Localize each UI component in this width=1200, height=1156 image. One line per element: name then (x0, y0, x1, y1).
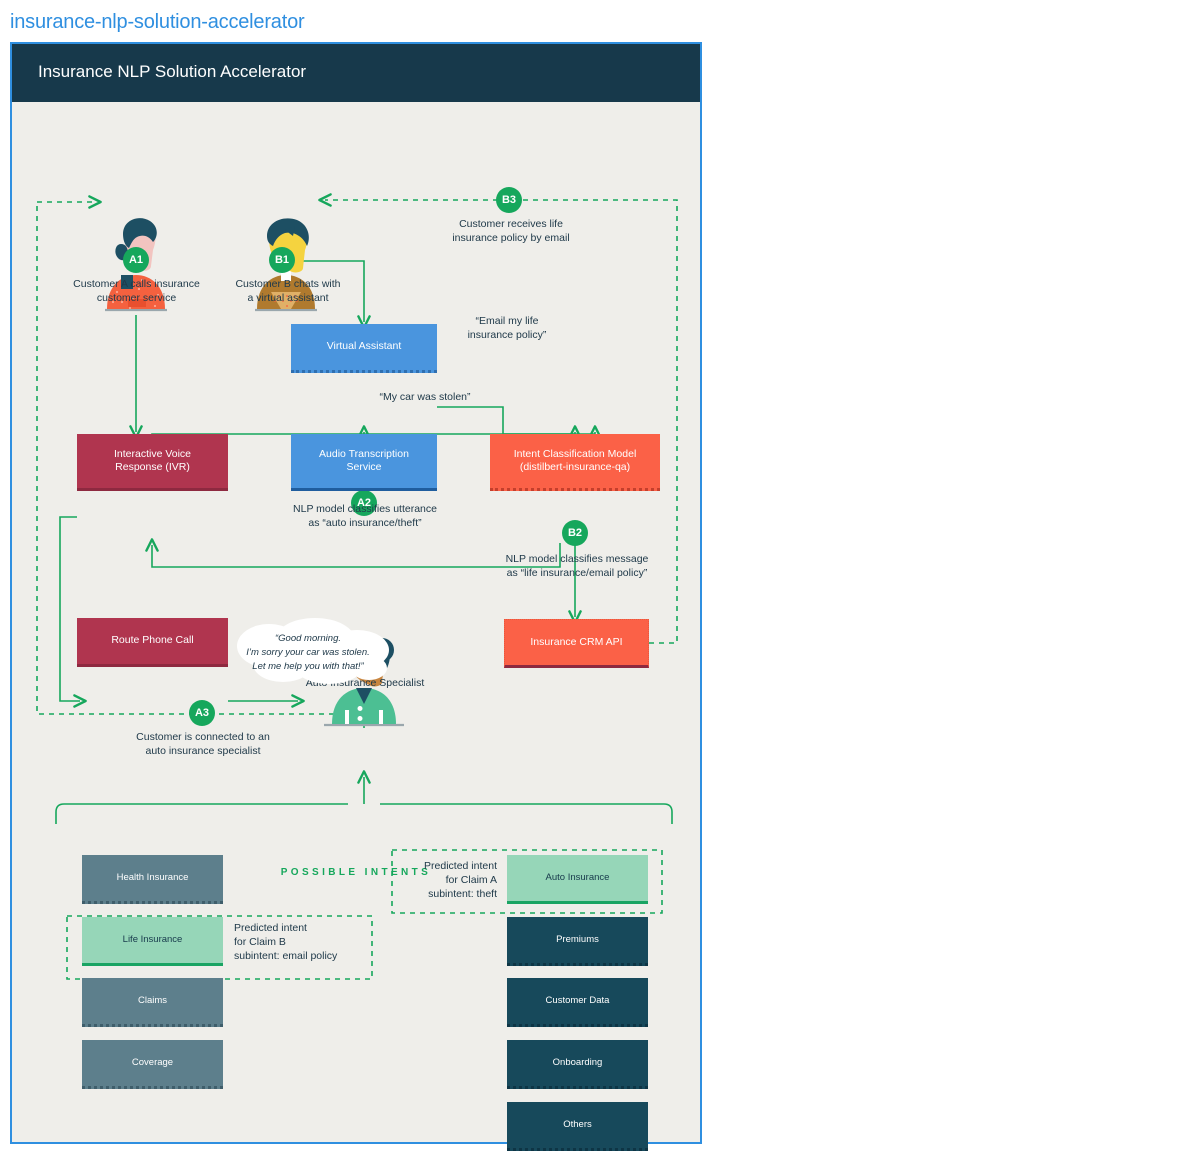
node-ivr-line-2: Response (IVR) (115, 461, 190, 473)
prediction-claim-b-line-1: Predicted intent (234, 921, 369, 935)
intent-life-insurance[interactable]: Life Insurance (82, 917, 223, 966)
node-intent-line-1: Intent Classification Model (514, 448, 637, 460)
speech-bubble-text: “Good morning. I’m sorry your car was st… (222, 632, 394, 673)
card-header: Insurance NLP Solution Accelerator (12, 44, 700, 102)
intent-premiums[interactable]: Premiums (507, 917, 648, 966)
node-virtual-assistant[interactable]: Virtual Assistant (291, 324, 437, 373)
step-note-a1-line-2: customer service (54, 291, 219, 305)
node-intent-label: Intent Classification Model (distilbert-… (508, 448, 643, 474)
utterance-email-policy: “Email my life insurance policy” (442, 314, 572, 342)
prediction-claim-a-line-1: Predicted intent (397, 859, 497, 873)
node-ivr-line-1: Interactive Voice (114, 448, 191, 460)
speech-bubble-line-2: I’m sorry your car was stolen. (222, 646, 394, 660)
badge-b1: B1 (269, 247, 295, 273)
prediction-claim-b-line-3: subintent: email policy (234, 949, 369, 963)
prediction-claim-b-note: Predicted intent for Claim B subintent: … (234, 921, 369, 964)
step-note-a2-line-2: as “auto insurance/theft” (274, 516, 456, 530)
intent-health-insurance[interactable]: Health Insurance (82, 855, 223, 904)
intent-auto-insurance-label: Auto Insurance (540, 872, 616, 884)
node-route-phone-call[interactable]: Route Phone Call (77, 618, 228, 667)
intent-claims[interactable]: Claims (82, 978, 223, 1027)
step-note-b2: NLP model classifies message as “life in… (482, 552, 672, 580)
node-audio-label: Audio Transcription Service (313, 448, 415, 474)
utterance-email-policy-line-1: “Email my life (442, 314, 572, 328)
step-note-b1-line-2: a virtual assistant (208, 291, 368, 305)
diagram-card: Insurance NLP Solution Accelerator (10, 42, 702, 1144)
intent-life-insurance-label: Life Insurance (117, 934, 189, 946)
node-ivr-label: Interactive Voice Response (IVR) (108, 448, 197, 474)
step-note-b3-line-1: Customer receives life (425, 217, 597, 231)
intent-onboarding-label: Onboarding (547, 1057, 609, 1069)
prediction-claim-a-line-2: for Claim A (397, 873, 497, 887)
node-insurance-crm-api[interactable]: Insurance CRM API (504, 619, 649, 668)
node-interactive-voice-response[interactable]: Interactive Voice Response (IVR) (77, 434, 228, 491)
node-audio-line-1: Audio Transcription (319, 448, 409, 460)
diagram-canvas: “Good morning. I’m sorry your car was st… (12, 102, 700, 1142)
intent-auto-insurance[interactable]: Auto Insurance (507, 855, 648, 904)
step-note-b2-line-2: as “life insurance/email policy” (482, 566, 672, 580)
step-note-a1: Customer A calls insurance customer serv… (54, 277, 219, 305)
step-note-b2-line-1: NLP model classifies message (482, 552, 672, 566)
intent-claims-label: Claims (132, 995, 173, 1007)
prediction-claim-a-note: Predicted intent for Claim A subintent: … (397, 859, 497, 902)
step-note-a3-line-1: Customer is connected to an (112, 730, 294, 744)
utterance-email-policy-line-2: insurance policy” (442, 328, 572, 342)
intent-premiums-label: Premiums (550, 934, 605, 946)
step-note-b3-line-2: insurance policy by email (425, 231, 597, 245)
intent-others[interactable]: Others (507, 1102, 648, 1151)
prediction-claim-b-line-2: for Claim B (234, 935, 369, 949)
intent-coverage[interactable]: Coverage (82, 1040, 223, 1089)
utterance-car-stolen: “My car was stolen” (345, 390, 505, 404)
step-note-b1: Customer B chats with a virtual assistan… (208, 277, 368, 305)
page-title: insurance-nlp-solution-accelerator (10, 11, 304, 34)
step-note-b3: Customer receives life insurance policy … (425, 217, 597, 245)
badge-b2: B2 (562, 520, 588, 546)
intent-customer-data[interactable]: Customer Data (507, 978, 648, 1027)
node-intent-classification-model[interactable]: Intent Classification Model (distilbert-… (490, 434, 660, 491)
speech-bubble-line-1: “Good morning. (222, 632, 394, 646)
node-audio-transcription-service[interactable]: Audio Transcription Service (291, 434, 437, 491)
badge-a1: A1 (123, 247, 149, 273)
badge-a3: A3 (189, 700, 215, 726)
node-intent-line-2: (distilbert-insurance-qa) (520, 461, 630, 473)
step-note-a2: NLP model classifies utterance as “auto … (274, 502, 456, 530)
node-virtual-assistant-label: Virtual Assistant (321, 340, 408, 353)
speech-bubble-line-3: Let me help you with that!” (222, 660, 394, 674)
prediction-claim-a-line-3: subintent: theft (397, 887, 497, 901)
step-note-a2-line-1: NLP model classifies utterance (274, 502, 456, 516)
step-note-a1-line-1: Customer A calls insurance (54, 277, 219, 291)
step-note-a3-line-2: auto insurance specialist (112, 744, 294, 758)
screenshot-root: insurance-nlp-solution-accelerator Insur… (0, 0, 1200, 1156)
intent-coverage-label: Coverage (126, 1057, 179, 1069)
node-insurance-crm-api-label: Insurance CRM API (524, 636, 628, 649)
intent-health-insurance-label: Health Insurance (111, 872, 195, 884)
intent-others-label: Others (557, 1119, 598, 1131)
card-header-title: Insurance NLP Solution Accelerator (38, 62, 306, 82)
intent-customer-data-label: Customer Data (540, 995, 616, 1007)
node-audio-line-2: Service (346, 461, 381, 473)
badge-b3: B3 (496, 187, 522, 213)
step-note-b1-line-1: Customer B chats with (208, 277, 368, 291)
step-note-a3: Customer is connected to an auto insuran… (112, 730, 294, 758)
node-route-phone-call-label: Route Phone Call (105, 634, 199, 647)
intent-onboarding[interactable]: Onboarding (507, 1040, 648, 1089)
